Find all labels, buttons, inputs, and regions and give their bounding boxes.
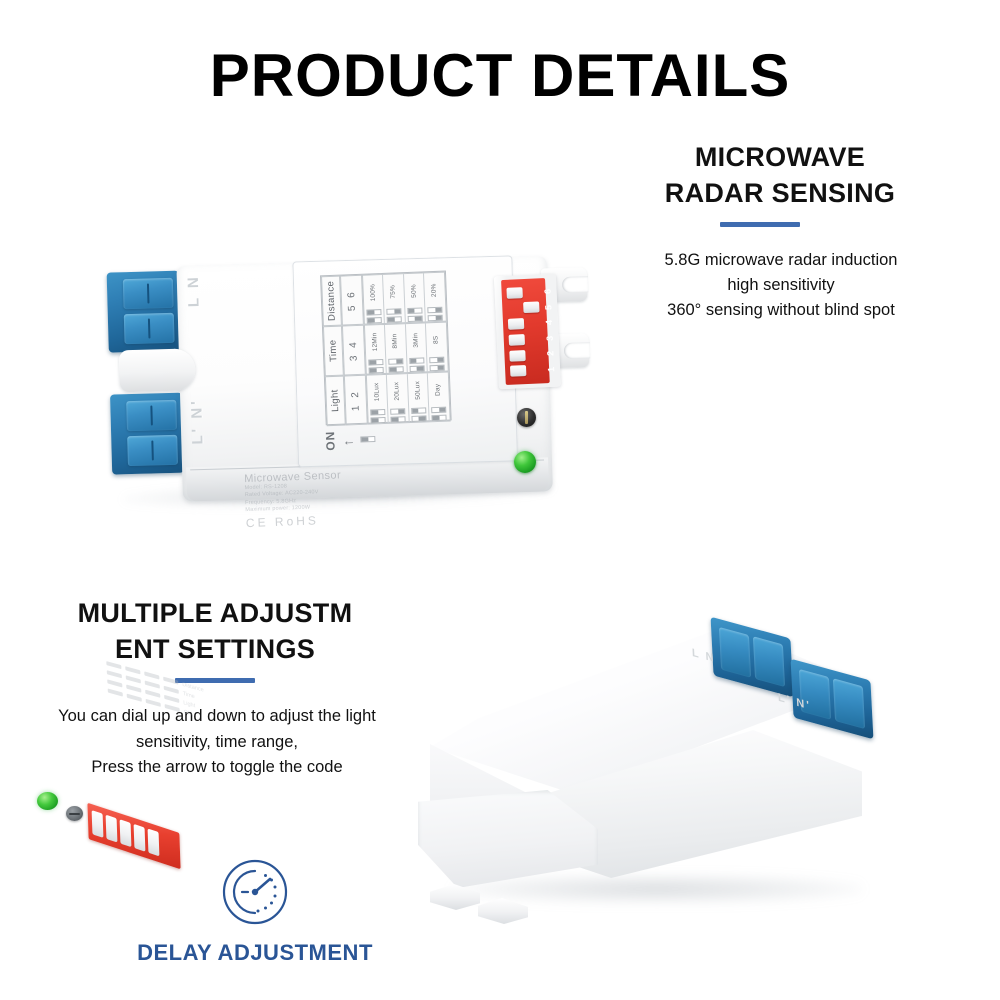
dip-switch-lever-6[interactable] [506, 287, 522, 299]
dip-number-5: 5 [544, 305, 553, 310]
sensitivity-adjust-screw[interactable] [66, 806, 83, 821]
cell-label: 12Min [371, 327, 379, 357]
table-row-switches-light: 1 2 [344, 375, 368, 426]
terminal-port [124, 313, 175, 344]
dip-indicator [407, 315, 422, 322]
dip-indicator [430, 357, 445, 364]
label-text: Light [183, 700, 195, 709]
table-cell: 12Min [365, 325, 387, 374]
terminal-connector-input [107, 271, 181, 353]
dip-indicator [387, 308, 402, 315]
dip-switch-lever-1[interactable] [510, 365, 526, 377]
dip-indicator [409, 357, 424, 364]
dip-switch-lever-3[interactable] [509, 334, 525, 346]
section-body-microwave: 5.8G microwave radar induction high sens… [596, 248, 966, 323]
terminal-port [127, 435, 178, 466]
dip-switch-lever-4[interactable] [134, 824, 146, 852]
dip-switch-numbers: 1 2 3 4 5 6 [543, 279, 557, 382]
dip-indicator [432, 407, 447, 414]
status-led-indicator [514, 451, 536, 473]
table-row-switches-distance: 5 6 [340, 275, 364, 326]
dip-indicator [368, 359, 383, 366]
body-line-3: 360° sensing without blind spot [596, 298, 966, 323]
dip-switch-lever-3[interactable] [120, 819, 132, 847]
heading-line-1: MICROWAVE [600, 140, 960, 176]
on-legend: ON ← [323, 429, 376, 451]
on-label: ON [323, 430, 338, 451]
body-line-2: high sensitivity [596, 273, 966, 298]
product-image-perspective-view [412, 612, 922, 942]
product-image-top-view: L N L' N' Distance 5 6 100% 75% [88, 241, 606, 540]
dip-number-2: 2 [546, 351, 555, 356]
dip-switch-lever-5[interactable] [523, 302, 539, 314]
page-title: PRODUCT DETAILS [0, 44, 1000, 107]
dip-indicator [371, 417, 386, 424]
product-details-page: PRODUCT DETAILS L N L' N' Distance 5 6 [0, 0, 1000, 1000]
terminal-port [126, 400, 177, 431]
dip-indicator [428, 315, 443, 322]
dip-indicator [428, 307, 443, 314]
table-cell: 10Lux [367, 375, 389, 424]
cell-label: 75% [389, 276, 397, 306]
table-cell: 3Min [405, 323, 427, 372]
table-row-switches-time: 3 4 [342, 325, 366, 376]
cell-label: 100% [369, 277, 377, 307]
cell-label: Day [434, 375, 442, 405]
table-row-label-distance: Distance [321, 276, 342, 327]
table-cell: 75% [383, 274, 405, 323]
dip-switch-lever-2[interactable] [509, 350, 525, 362]
mounting-clip-left [119, 348, 196, 392]
table-cell: 8S [426, 323, 448, 372]
table-cell: 100% [363, 275, 385, 324]
table-row-values-time: 12Min 8Min 3Min 8S [364, 322, 449, 375]
dip-indicator [411, 407, 426, 414]
table-cell: 20Lux [387, 374, 409, 423]
status-led-indicator [37, 792, 58, 810]
label-text: ON [184, 709, 193, 717]
dip-number-1: 1 [547, 366, 556, 371]
dip-number-4: 4 [545, 320, 554, 325]
arrow-left-icon: ← [342, 433, 355, 446]
terminal-marking-ln-prime: L' N' [188, 398, 206, 445]
cell-label: 50Lux [414, 376, 422, 406]
sensitivity-adjust-screw[interactable] [517, 408, 536, 427]
dip-switch-lever-1[interactable] [92, 810, 104, 838]
dip-indicator [407, 307, 422, 314]
table-row-values-light: 10Lux 20Lux 50Lux Da [366, 372, 451, 425]
label-text: Time [183, 691, 195, 700]
cell-label: 10Lux [373, 377, 381, 407]
dip-indicator [387, 316, 402, 323]
dip-indicator [430, 365, 445, 372]
dip-indicator [391, 416, 406, 423]
heading-line-2: ENT SETTINGS [30, 632, 400, 668]
table-row-label-light: Light [325, 376, 346, 427]
dip-indicator [389, 358, 404, 365]
cell-label: 20% [430, 275, 438, 305]
speedometer-timer-icon [221, 858, 289, 926]
cell-label: 20Lux [393, 376, 401, 406]
dip-indicator [366, 309, 381, 316]
dip-indicator [369, 367, 384, 374]
terminal-marking-ln: L N [185, 274, 203, 307]
dip-switch-lever-2[interactable] [106, 815, 118, 843]
cell-label: 50% [410, 276, 418, 306]
body-line-1: 5.8G microwave radar induction [596, 248, 966, 273]
dip-switch-block[interactable]: 1 2 3 4 5 6 [494, 274, 561, 390]
section-heading-microwave: MICROWAVE RADAR SENSING [600, 140, 960, 212]
delay-adjustment-badge: DELAY ADJUSTMENT [110, 858, 400, 966]
table-cell: 20% [424, 273, 446, 322]
dip-switch-lever-4[interactable] [508, 318, 524, 330]
table-cell: 8Min [385, 324, 407, 373]
terminal-connector-output [110, 393, 184, 475]
heading-line-1: MULTIPLE ADJUSTM [30, 596, 400, 632]
table-row-values-distance: 100% 75% 50% 20% [362, 272, 447, 325]
cell-label: 3Min [412, 326, 420, 356]
dip-indicator [411, 415, 426, 422]
dip-indicator [409, 365, 424, 372]
dip-indicator [391, 408, 406, 415]
table-cell: Day [428, 373, 450, 422]
cell-label: 8Min [391, 326, 399, 356]
delay-adjustment-label: DELAY ADJUSTMENT [110, 940, 400, 966]
table-cell: 50Lux [407, 373, 429, 422]
settings-label-table: Distance 5 6 100% 75% 50% [320, 271, 452, 426]
dip-indicator [432, 415, 447, 422]
heading-line-2: RADAR SENSING [600, 176, 960, 212]
cell-label: 8S [432, 325, 440, 355]
section-heading-adjustment: MULTIPLE ADJUSTM ENT SETTINGS [30, 596, 400, 668]
product-printed-text: Microwave Sensor Model: RS-1208 Rated Vo… [244, 464, 476, 529]
dip-number-6: 6 [544, 289, 553, 294]
dip-indicator [360, 436, 375, 443]
dip-switch-lever-5[interactable] [148, 828, 160, 856]
section-divider-microwave [720, 222, 800, 227]
table-cell: 50% [404, 273, 426, 322]
dip-indicator [367, 317, 382, 324]
dip-number-3: 3 [546, 335, 555, 340]
dip-indicator [370, 409, 385, 416]
table-row-label-time: Time [323, 326, 344, 377]
terminal-port [123, 278, 174, 309]
dip-indicator [389, 366, 404, 373]
